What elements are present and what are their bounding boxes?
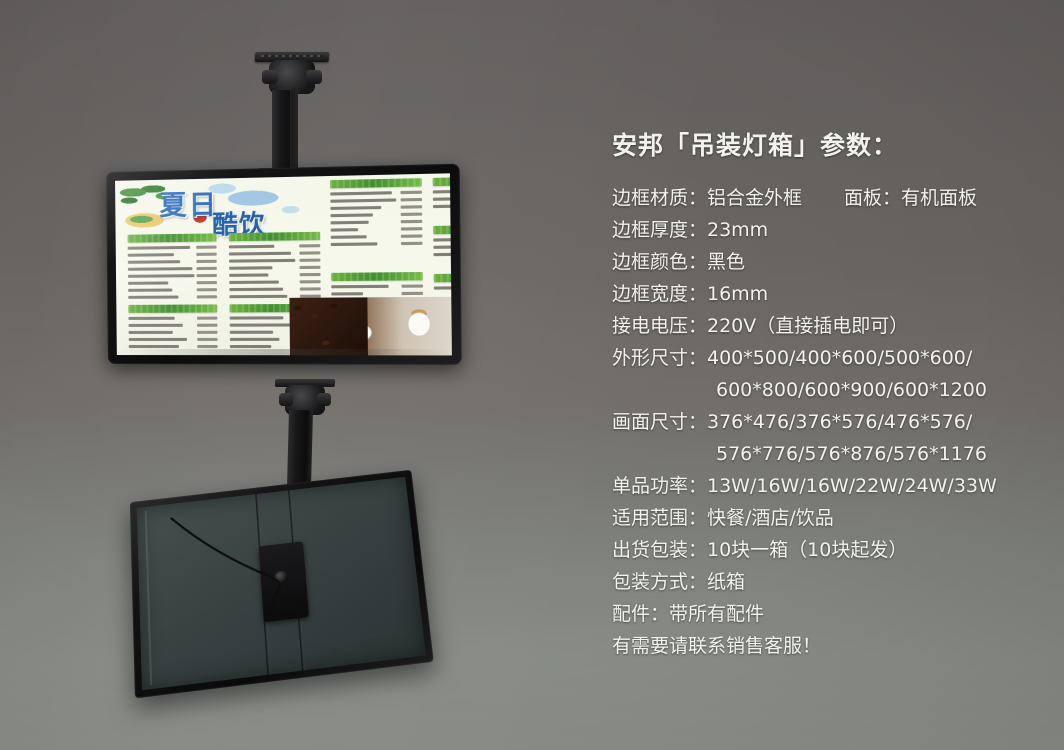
menu-row: [433, 243, 452, 248]
menu-category-1: [128, 241, 218, 301]
menu-row: [128, 245, 217, 250]
menu-row: [330, 197, 422, 203]
spec-line-accessories: 配件：带所有配件: [612, 598, 1052, 630]
menu-category-9: [434, 282, 452, 293]
category-item-rows: [433, 236, 452, 256]
menu-category-6: [433, 184, 452, 211]
spec-line-graphic-size: 画面尺寸：376*476/376*576/476*576/: [612, 406, 1052, 438]
menu-row: [128, 316, 217, 320]
menu-row: [129, 344, 218, 348]
menu-row: [128, 287, 217, 292]
menu-row: [433, 202, 452, 208]
lower-pivot-knob-right: [317, 393, 331, 406]
category-header-bar: [433, 176, 452, 186]
menu-row: [331, 283, 423, 288]
menu-row: [128, 294, 217, 299]
lightbox-back-panel: [137, 477, 426, 690]
menu-row: [229, 265, 320, 270]
spec-line-shipping-package: 出货包装：10块一箱（10块起发）: [612, 534, 1052, 566]
beach-island-shape: [125, 214, 157, 226]
menu-category-3: [128, 313, 217, 352]
spec-material-label: 边框材质：铝合金外框: [612, 182, 802, 214]
poster-footer-strip: [117, 349, 452, 355]
upper-pivot-knob-left: [262, 70, 278, 84]
category-header-bar: [128, 304, 217, 313]
menu-category-2: [229, 240, 321, 301]
menu-row: [433, 187, 452, 193]
category-item-rows: [229, 243, 321, 298]
spec-line-voltage: 接电电压：220V（直接插电即可）: [612, 310, 1052, 342]
mount-plate-screw-row: [261, 55, 323, 57]
category-header-bar: [128, 233, 217, 242]
category-header-bar: [331, 272, 423, 281]
menu-row: [331, 219, 423, 225]
product-photo-canvas: 夏日 酷饮: [0, 0, 1064, 750]
upper-lightbox-front: 夏日 酷饮: [106, 164, 462, 365]
lightbox-back-frame: [130, 470, 434, 699]
menu-row: [331, 241, 423, 246]
lower-pivot-knob-left: [279, 393, 293, 406]
menu-row: [229, 272, 320, 277]
category-item-rows: [433, 187, 452, 208]
menu-row: [433, 236, 452, 242]
category-header-bar: [229, 232, 320, 242]
spec-line-outer-size-cont: 600*800/600*900/600*1200: [612, 374, 1052, 406]
spec-graphic-size-cont: 576*776/576*876/576*1176: [716, 438, 987, 470]
category-header-bar: [433, 224, 452, 234]
poster-header-art: 夏日 酷饮: [115, 176, 325, 241]
spec-panel-material: 面板：有机面板: [844, 182, 977, 214]
lightbox-menu-panel: 夏日 酷饮: [115, 173, 452, 355]
category-item-rows: [434, 285, 452, 290]
category-item-rows: [128, 316, 217, 348]
menu-row: [229, 250, 320, 255]
menu-row: [330, 211, 422, 217]
spec-line-material: 边框材质：铝合金外框 面板：有机面板: [612, 182, 1052, 214]
menu-row: [229, 258, 320, 263]
menu-row: [229, 243, 320, 248]
panel-inner-edge: [145, 511, 152, 686]
upper-pivot-knob-right: [306, 70, 322, 84]
menu-row: [128, 252, 217, 257]
menu-row: [331, 226, 423, 232]
menu-row: [229, 286, 320, 291]
category-item-rows: [330, 190, 422, 246]
menu-row: [128, 273, 217, 278]
menu-row: [434, 285, 452, 290]
menu-row: [330, 204, 422, 210]
spec-panel: 安邦「吊装灯箱」参数： 边框材质：铝合金外框 面板：有机面板 边框厚度：23mm…: [612, 126, 1052, 662]
spec-title: 安邦「吊装灯箱」参数：: [612, 126, 1052, 162]
menu-row: [433, 251, 451, 256]
coffee-beans-area: [289, 297, 368, 355]
spec-line-packing-method: 包装方式：纸箱: [612, 566, 1052, 598]
menu-row: [330, 190, 422, 196]
category-header-bar: [330, 178, 422, 188]
spec-line-outer-size: 外形尺寸：400*500/400*600/500*600/: [612, 342, 1052, 374]
spec-line-width: 边框宽度：16mm: [612, 278, 1052, 310]
menu-row: [128, 323, 217, 327]
lower-lightbox-back: [130, 470, 434, 699]
category-header-bar: [434, 273, 452, 282]
coffee-photo: [289, 297, 452, 356]
menu-row: [128, 266, 217, 271]
menu-row: [129, 330, 218, 334]
menu-row: [129, 337, 218, 341]
spec-line-graphic-size-cont: 576*776/576*876/576*1176: [612, 438, 1052, 470]
spec-outer-size-cont: 600*800/600*900/600*1200: [716, 374, 987, 406]
spec-line-contact: 有需要请联系销售客服！: [612, 630, 1052, 662]
lightbox-aluminum-frame: 夏日 酷饮: [106, 164, 462, 365]
menu-category-5: [330, 186, 422, 249]
menu-row: [128, 259, 217, 264]
menu-row: [433, 195, 452, 201]
spec-line-thickness: 边框厚度：23mm: [612, 214, 1052, 246]
menu-category-7: [433, 233, 452, 259]
menu-row: [331, 233, 423, 238]
category-item-rows: [128, 245, 217, 299]
spec-line-application: 适用范围：快餐/酒店/饮品: [612, 502, 1052, 534]
menu-row: [128, 280, 217, 285]
spec-line-color: 边框颜色：黑色: [612, 246, 1052, 278]
poster-title-line1: 夏日: [159, 183, 218, 224]
menu-row: [229, 279, 320, 284]
spec-line-power: 单品功率：13W/16W/16W/22W/24W/33W: [612, 470, 1052, 502]
menu-row: [331, 291, 423, 296]
